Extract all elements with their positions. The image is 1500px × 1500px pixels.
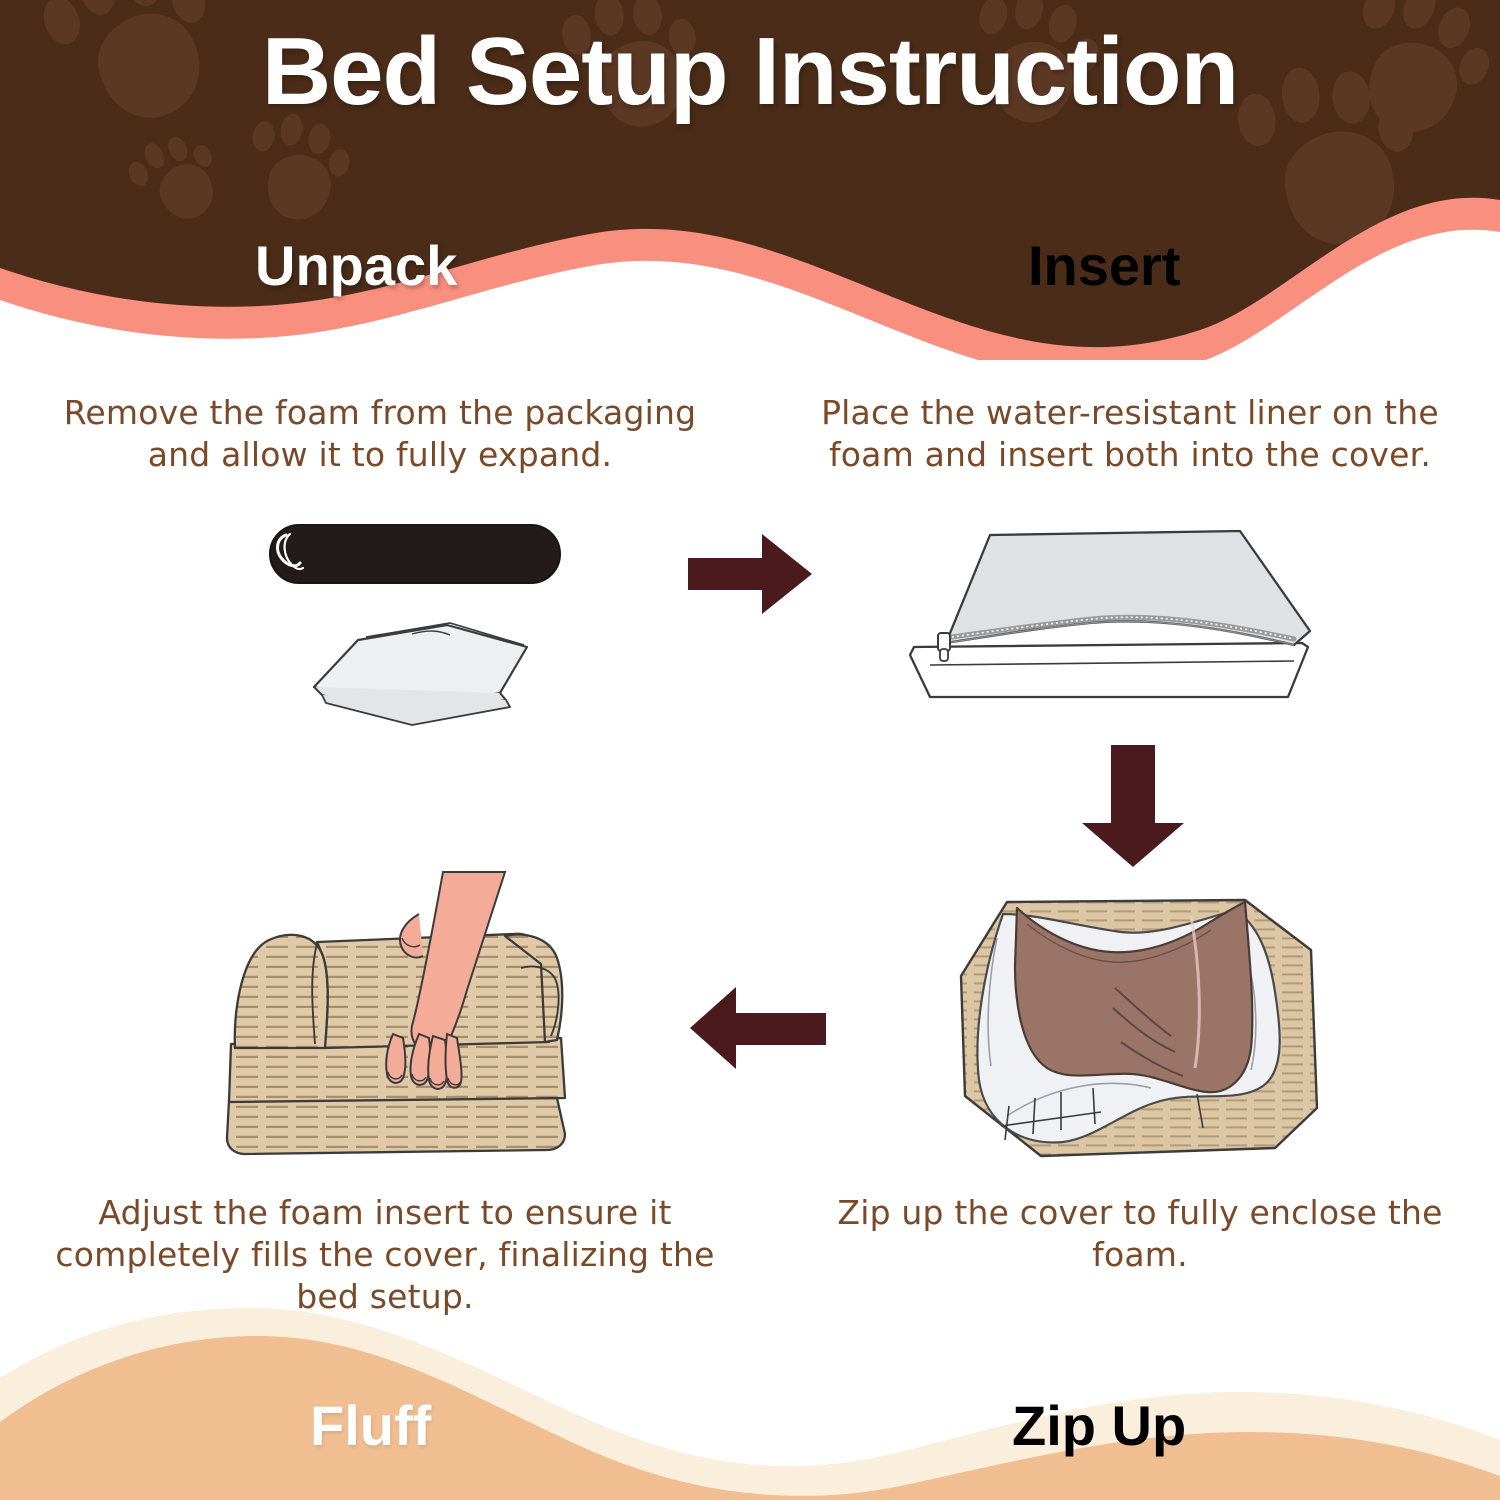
caption-fluff: Adjust the foam insert to ensure it comp… (55, 1192, 715, 1319)
caption-unpack: Remove the foam from the packaging and a… (60, 392, 700, 476)
foam-base-icon (910, 643, 1308, 697)
rolled-foam-icon (270, 525, 560, 583)
step-label-unpack: Unpack (255, 238, 457, 294)
footer-banner (0, 1300, 1500, 1500)
caption-zip-up: Zip up the cover to fully enclose the fo… (810, 1192, 1470, 1276)
rolled-foam-and-liner-illustration (262, 515, 592, 735)
infographic-page: Bed Setup Instruction Unpack Insert Remo… (0, 0, 1500, 1500)
step-label-zip-up: Zip Up (1012, 1398, 1186, 1454)
step-label-fluff: Fluff (310, 1398, 431, 1454)
folded-liner-icon (314, 623, 527, 725)
liner-on-foam-illustration (890, 505, 1320, 725)
arrow-left-icon (690, 985, 826, 1076)
arrow-down-icon (1078, 745, 1188, 872)
page-title: Bed Setup Instruction (0, 22, 1500, 123)
foam-bolster-icon (235, 934, 563, 1048)
arrow-right-icon (688, 532, 812, 621)
step-label-insert: Insert (1028, 238, 1181, 294)
hand-fluffing-bed-illustration (205, 872, 625, 1172)
foam-base-slab-icon (227, 1098, 565, 1154)
cover-with-foam-illustration (945, 880, 1345, 1180)
caption-insert: Place the water-resistant liner on the f… (800, 392, 1460, 476)
